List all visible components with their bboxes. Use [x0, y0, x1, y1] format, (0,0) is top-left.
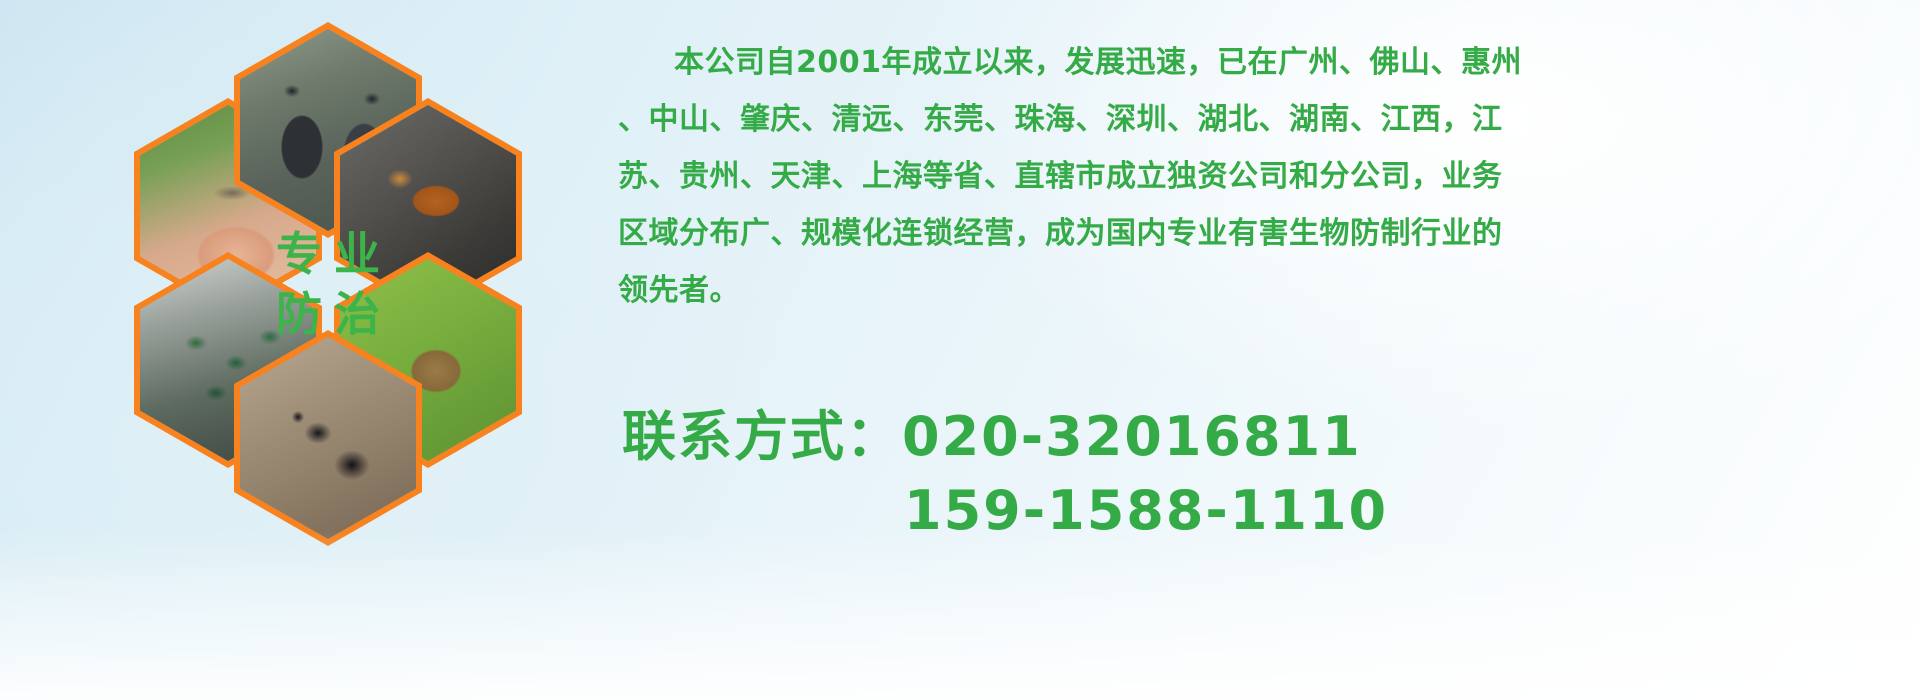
intro-line-2: 、中山、肇庆、清远、东莞、珠海、深圳、湖北、湖南、江西，江: [618, 91, 1888, 148]
slogan-line-2: 防治: [264, 291, 392, 337]
intro-line-3: 苏、贵州、天津、上海等省、直辖市成立独资公司和分公司，业务: [618, 148, 1888, 205]
contact-secondary-line: 159-1588-1110: [622, 474, 1902, 548]
phone-secondary[interactable]: 159-1588-1110: [904, 479, 1388, 542]
intro-line-5: 领先者。: [618, 262, 1888, 319]
contact-label: 联系方式：: [622, 405, 902, 468]
promo-banner: 专业 防治 本公司自2001年成立以来，发展迅速，已在广州、佛山、惠州 、中山、…: [0, 0, 1920, 700]
honeycomb-gallery: 专业 防治: [86, 8, 586, 568]
phone-primary[interactable]: 020-32016811: [902, 405, 1362, 468]
contact-block: 联系方式：020-32016811 159-1588-1110: [622, 400, 1902, 548]
contact-primary-line: 联系方式：020-32016811: [622, 400, 1902, 474]
intro-line-1: 本公司自2001年成立以来，发展迅速，已在广州、佛山、惠州: [618, 34, 1888, 91]
intro-paragraph: 本公司自2001年成立以来，发展迅速，已在广州、佛山、惠州 、中山、肇庆、清远、…: [618, 34, 1888, 319]
intro-line-4: 区域分布广、规模化连锁经营，成为国内专业有害生物防制行业的: [618, 205, 1888, 262]
slogan-line-1: 专业: [264, 231, 392, 277]
